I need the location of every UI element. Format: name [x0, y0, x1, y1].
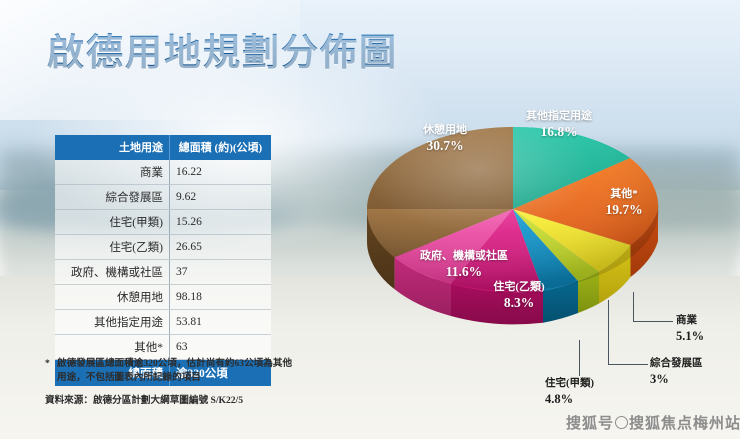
- pie-label-other-use-name: 其他指定用途: [504, 110, 614, 123]
- watermark-suffix: 搜狐焦点梅州站: [629, 414, 740, 432]
- row-label-res-b: 住宅(乙類): [55, 235, 169, 260]
- callout-mixed-name: 綜合發展區: [650, 358, 703, 371]
- row-value-commercial: 16.22: [169, 160, 271, 185]
- leader-line-mixed-horizontal: [608, 364, 648, 365]
- row-value-gov: 37: [169, 260, 271, 285]
- callout-commercial-name: 商業: [676, 315, 704, 328]
- row-label-other: 其他*: [55, 335, 169, 360]
- land-use-table: 土地用途 總面積 (約)(公頃) 商業 16.22 綜合發展區 9.62 住宅(…: [55, 135, 271, 386]
- row-value-mixed: 9.62: [169, 185, 271, 210]
- pie-label-other-use: 其他指定用途 16.8%: [504, 110, 614, 140]
- footnote-text: 啟德發展區總面積逾320公頃，估計尚有約63公頃為其他用途，不包括圖表內所記錄的…: [57, 357, 297, 385]
- footnote: * 啟德發展區總面積逾320公頃，估計尚有約63公頃為其他用途，不包括圖表內所記…: [45, 357, 297, 385]
- infographic-canvas: 啟德用地規劃分佈圖 土地用途 總面積 (約)(公頃) 商業 16.22 綜合發展…: [0, 0, 740, 439]
- pie-label-recreation-value: 30.7%: [390, 138, 500, 154]
- pie-label-other: 其他* 19.7%: [584, 188, 664, 218]
- pie-label-gov-name: 政府、機構或社區: [401, 250, 527, 263]
- table-row: 商業 16.22: [55, 160, 271, 185]
- row-value-recreation: 98.18: [169, 285, 271, 310]
- watermark: 搜狐号搜狐焦点梅州站: [566, 412, 740, 433]
- table-header-use: 土地用途: [55, 135, 169, 160]
- row-value-res-a: 15.26: [169, 210, 271, 235]
- page-title: 啟德用地規劃分佈圖: [47, 22, 398, 76]
- pie-label-other-name: 其他*: [584, 188, 664, 201]
- pie-label-res-b-value: 8.3%: [478, 295, 560, 311]
- callout-commercial: 商業 5.1%: [676, 315, 704, 344]
- watermark-prefix: 搜狐号: [566, 414, 614, 432]
- row-value-other: 63: [169, 335, 271, 360]
- callout-mixed-value: 3%: [650, 372, 703, 387]
- table-row: 其他* 63: [55, 335, 271, 360]
- pie-label-res-b-name: 住宅(乙類): [478, 281, 560, 294]
- row-label-recreation: 休憩用地: [55, 285, 169, 310]
- table-header-row: 土地用途 總面積 (約)(公頃): [55, 135, 271, 160]
- pie-label-gov: 政府、機構或社區 11.6%: [401, 250, 527, 280]
- pie-label-recreation-name: 休憩用地: [390, 124, 500, 137]
- pie-label-other-use-value: 16.8%: [504, 124, 614, 140]
- table-row: 綜合發展區 9.62: [55, 185, 271, 210]
- leader-line-mixed-vertical: [608, 300, 609, 365]
- leader-line-res-a-vertical: [579, 340, 580, 376]
- table-row: 住宅(甲類) 15.26: [55, 210, 271, 235]
- pie-label-res-b: 住宅(乙類) 8.3%: [478, 281, 560, 311]
- row-label-gov: 政府、機構或社區: [55, 260, 169, 285]
- footnote-star: *: [45, 357, 50, 371]
- row-label-res-a: 住宅(甲類): [55, 210, 169, 235]
- callout-res-a: 住宅(甲類) 4.8%: [545, 378, 594, 407]
- callout-res-a-value: 4.8%: [545, 392, 594, 407]
- row-value-res-b: 26.65: [169, 235, 271, 260]
- pie-label-other-value: 19.7%: [584, 202, 664, 218]
- row-label-mixed: 綜合發展區: [55, 185, 169, 210]
- callout-commercial-value: 5.1%: [676, 329, 704, 344]
- table-row: 住宅(乙類) 26.65: [55, 235, 271, 260]
- watermark-badge-icon: [615, 416, 628, 429]
- pie-label-recreation: 休憩用地 30.7%: [390, 124, 500, 154]
- leader-line-commercial-vertical: [633, 292, 634, 322]
- callout-res-a-name: 住宅(甲類): [545, 378, 594, 391]
- callout-mixed: 綜合發展區 3%: [650, 358, 703, 387]
- row-label-commercial: 商業: [55, 160, 169, 185]
- row-label-other-use: 其他指定用途: [55, 310, 169, 335]
- table-row: 其他指定用途 53.81: [55, 310, 271, 335]
- table-header-area: 總面積 (約)(公頃): [169, 135, 271, 160]
- table-row: 政府、機構或社區 37: [55, 260, 271, 285]
- table-row: 休憩用地 98.18: [55, 285, 271, 310]
- source-note: 資料來源：啟德分區計劃大綱草圖編號 S/K22/5: [45, 392, 305, 406]
- pie-label-gov-value: 11.6%: [401, 264, 527, 280]
- leader-line-commercial-horizontal: [633, 321, 673, 322]
- row-value-other-use: 53.81: [169, 310, 271, 335]
